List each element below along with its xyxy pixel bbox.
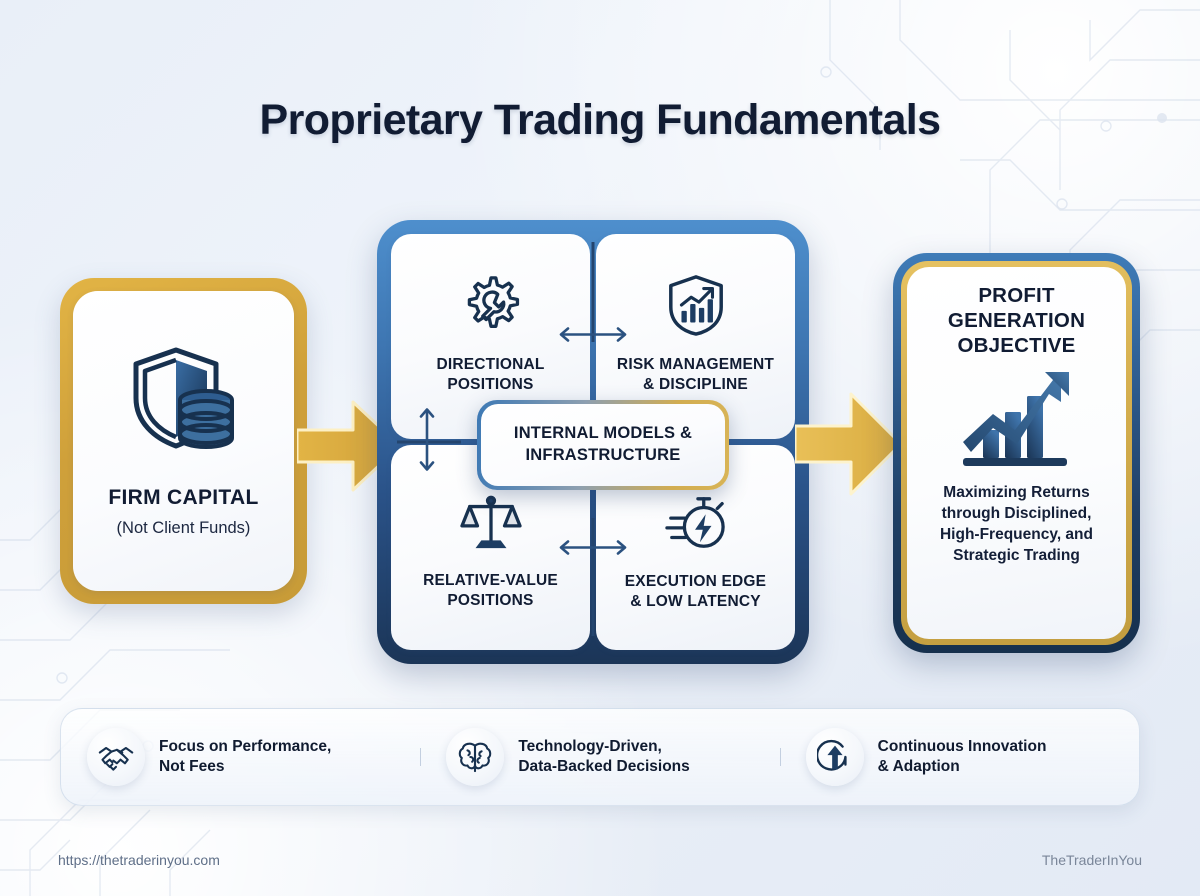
- infographic-canvas: Proprietary Trading Fundamentals: [0, 0, 1200, 896]
- benefit-label-line2: Data-Backed Decisions: [518, 758, 689, 775]
- benefit-continuous-innovation[interactable]: Continuous Innovation & Adaption: [780, 728, 1139, 786]
- circular-up-arrow-icon: [806, 728, 864, 786]
- brain-icon: [446, 728, 504, 786]
- profit-desc-line3: High-Frequency, and: [940, 526, 1093, 543]
- key-benefits-bar: Focus on Performance, Not Fees: [60, 708, 1140, 806]
- page-title: Proprietary Trading Fundamentals: [0, 96, 1200, 145]
- badge-label-line1: INTERNAL MODELS &: [514, 424, 692, 442]
- footer-brand: TheTraderInYou: [1042, 852, 1142, 868]
- benefit-label-line2: Not Fees: [159, 758, 224, 775]
- firm-capital-card[interactable]: FIRM CAPITAL (Not Client Funds): [60, 278, 307, 604]
- benefit-focus-on-performance[interactable]: Focus on Performance, Not Fees: [61, 728, 420, 786]
- footer-url[interactable]: https://thetraderinyou.com: [58, 852, 220, 868]
- quadrant-label-line1: DIRECTIONAL: [436, 356, 544, 373]
- stopwatch-bolt-icon: [665, 493, 727, 558]
- shield-coins-icon: [128, 344, 240, 459]
- benefit-technology-driven[interactable]: Technology-Driven, Data-Backed Decisions: [420, 728, 779, 786]
- quadrant-label-line1: EXECUTION EDGE: [625, 573, 766, 590]
- benefit-label-line1: Continuous Innovation: [878, 738, 1047, 755]
- profit-heading-line3: OBJECTIVE: [958, 334, 1076, 357]
- profit-desc-line4: Strategic Trading: [953, 547, 1080, 564]
- profit-desc-line1: Maximizing Returns: [943, 484, 1089, 501]
- firm-capital-heading: FIRM CAPITAL: [108, 485, 258, 511]
- quadrant-label-line2: POSITIONS: [447, 592, 533, 609]
- benefit-label-line1: Technology-Driven,: [518, 738, 662, 755]
- scales-icon: [460, 494, 522, 557]
- handshake-icon: [87, 728, 145, 786]
- profit-heading-line1: PROFIT: [978, 284, 1054, 307]
- benefit-label-line1: Focus on Performance,: [159, 738, 331, 755]
- shield-chart-icon: [667, 274, 725, 341]
- divider-vertical-bottom: [592, 518, 595, 636]
- growth-chart-arrow-icon: [957, 368, 1077, 477]
- quadrant-label-line1: RELATIVE-VALUE: [423, 572, 558, 589]
- quadrant-label-line1: RISK MANAGEMENT: [617, 356, 774, 373]
- gear-wrench-icon: [460, 274, 522, 341]
- badge-label-line2: INFRASTRUCTURE: [526, 446, 681, 464]
- profit-heading-line2: GENERATION: [948, 309, 1085, 332]
- quadrant-label-line2: & LOW LATENCY: [630, 593, 761, 610]
- profit-generation-card[interactable]: PROFIT GENERATION OBJECTIVE: [893, 253, 1140, 653]
- profit-desc-line2: through Disciplined,: [942, 505, 1092, 522]
- divider-vertical-top: [592, 242, 595, 342]
- quadrant-label-line2: POSITIONS: [447, 376, 533, 393]
- internal-models-badge[interactable]: INTERNAL MODELS & INFRASTRUCTURE: [477, 400, 729, 490]
- flow-arrow-right: [795, 388, 903, 505]
- divider-horizontal-left: [397, 441, 461, 444]
- firm-capital-subtext: (Not Client Funds): [117, 519, 251, 538]
- benefit-label-line2: & Adaption: [878, 758, 960, 775]
- quadrant-label-line2: & DISCIPLINE: [643, 376, 748, 393]
